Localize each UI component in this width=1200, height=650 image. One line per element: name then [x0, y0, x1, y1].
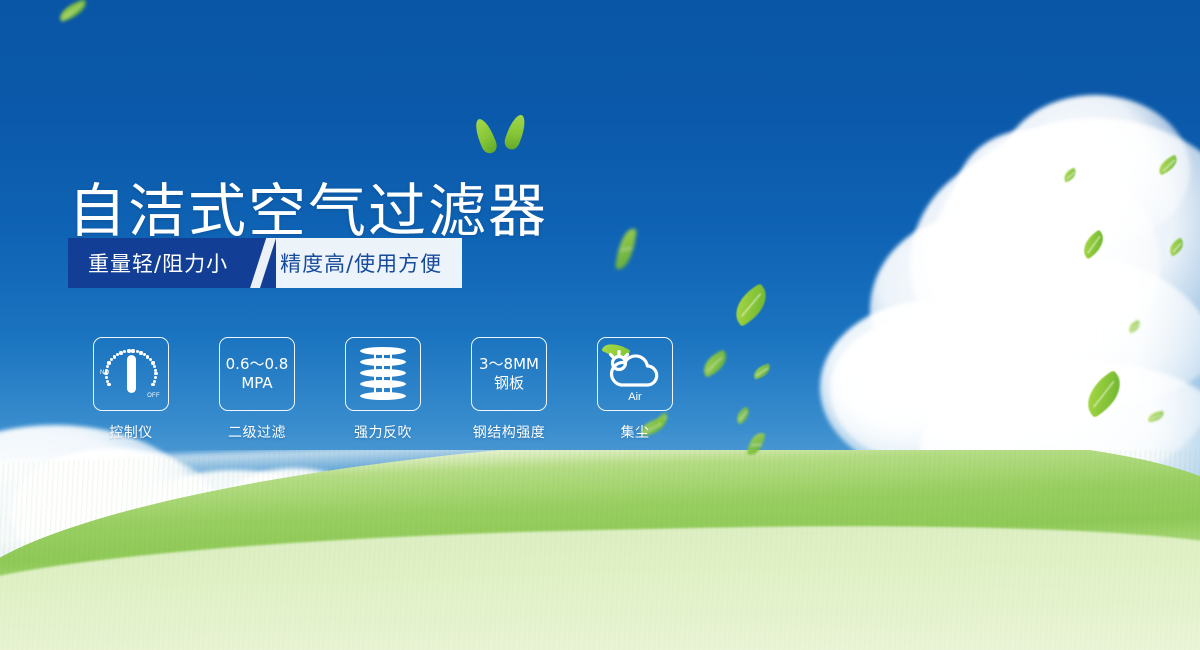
steel-thickness: 3～8MM — [479, 355, 539, 374]
steel-material: 钢板 — [479, 374, 539, 393]
dial-dot — [110, 358, 113, 361]
dial-needle-icon — [127, 355, 136, 393]
subtitle-bar: 重量轻/阻力小 精度高/使用方便 — [68, 238, 462, 288]
air-label: Air — [605, 391, 665, 403]
pressure-value: 0.6～0.8 — [226, 355, 289, 374]
feature-item-steel-strength[interactable]: 3～8MM 钢板 钢结构强度 — [446, 337, 572, 442]
dial-dot — [154, 372, 157, 375]
feature-icon-row: NO OFF 控制仪 0.6～0.8 MPA 二级过滤 — [68, 337, 698, 442]
dial-dot — [136, 350, 139, 353]
feature-label: 集尘 — [621, 422, 650, 442]
dial-icon: NO OFF — [100, 346, 162, 402]
title-decorative-leaves — [470, 108, 540, 164]
dial-dot — [105, 376, 108, 379]
feature-box — [345, 337, 421, 411]
dial-dot — [119, 351, 122, 354]
dial-dot — [113, 355, 116, 358]
pressure-unit: MPA — [226, 374, 289, 393]
feature-item-dust-collection[interactable]: Air 集尘 — [572, 337, 698, 442]
dial-dot — [106, 365, 109, 368]
grass-field — [0, 450, 1200, 650]
feature-box: NO OFF — [93, 337, 169, 411]
subtitle-divider-slash — [250, 238, 276, 288]
feature-item-two-stage-filter[interactable]: 0.6～0.8 MPA 二级过滤 — [194, 337, 320, 442]
leaf-icon — [502, 113, 528, 152]
dial-dot — [107, 383, 110, 386]
feature-box: 0.6～0.8 MPA — [219, 337, 295, 411]
feature-box: 3～8MM 钢板 — [471, 337, 547, 411]
feature-box: Air — [597, 337, 673, 411]
coil-bar — [390, 349, 392, 399]
product-hero-banner: 自洁式空气过滤器 重量轻/阻力小 精度高/使用方便 NO OFF 控制仪 — [0, 0, 1200, 650]
subtitle-right-tag: 精度高/使用方便 — [276, 238, 462, 288]
dial-dot — [123, 350, 126, 353]
cloud-glyph — [605, 349, 665, 391]
dial-label-on: NO — [100, 370, 110, 376]
coil-bar — [374, 349, 376, 399]
coil-bar — [382, 349, 384, 399]
pressure-text-icon: 0.6～0.8 MPA — [226, 355, 289, 393]
dial-dot — [151, 383, 154, 386]
feature-item-control-panel[interactable]: NO OFF 控制仪 — [68, 337, 194, 442]
feature-label: 强力反吹 — [354, 422, 412, 442]
steel-text-icon: 3～8MM 钢板 — [479, 355, 539, 393]
dial-dot — [107, 361, 110, 364]
feature-label: 控制仪 — [109, 422, 153, 442]
dial-dot — [106, 380, 109, 383]
dial-dot — [131, 349, 134, 352]
feature-item-strong-blowback[interactable]: 强力反吹 — [320, 337, 446, 442]
dial-dot — [127, 349, 130, 352]
feature-label: 钢结构强度 — [473, 422, 546, 442]
dial-dot — [154, 369, 157, 372]
dial-dot — [153, 365, 156, 368]
coil-filter-icon — [360, 347, 406, 401]
leaf-icon — [472, 117, 499, 156]
subtitle-left-tag: 重量轻/阻力小 — [68, 238, 250, 288]
air-cloud-icon: Air — [605, 347, 665, 401]
page-title: 自洁式空气过滤器 — [68, 182, 548, 240]
dial-label-off: OFF — [147, 393, 160, 399]
dial-dot — [154, 376, 157, 379]
feature-label: 二级过滤 — [228, 422, 286, 442]
